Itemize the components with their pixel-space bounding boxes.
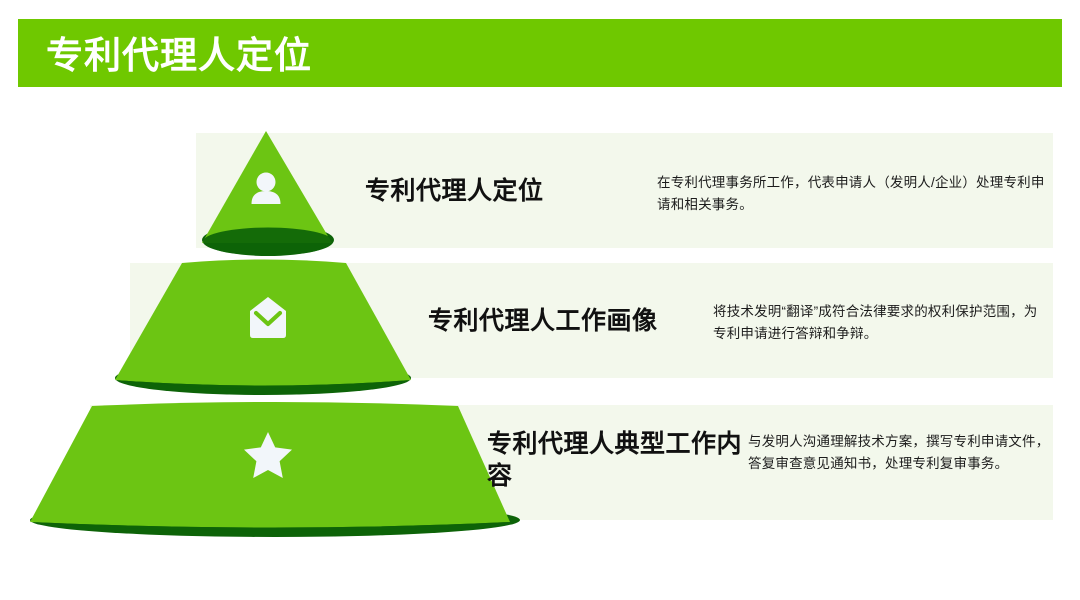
star-icon — [240, 427, 296, 483]
tier-label-1: 专利代理人定位 — [365, 175, 625, 207]
envelope-icon — [242, 292, 294, 344]
tier-description-2: 将技术发明“翻译”成符合法律要求的权利保护范围，为专利申请进行答辩和争辩。 — [713, 301, 1046, 345]
tier-label-2: 专利代理人工作画像 — [428, 305, 688, 337]
person-icon — [241, 165, 291, 215]
slide-title-banner: 专利代理人定位 — [18, 19, 1062, 87]
tier-description-3: 与发明人沟通理解技术方案，撰写专利申请文件，答复审查意见通知书，处理专利复审事务… — [748, 431, 1050, 475]
tier-label-3: 专利代理人典型工作内容 — [487, 428, 745, 492]
page-title: 专利代理人定位 — [46, 25, 312, 79]
tier-description-1: 在专利代理事务所工作，代表申请人（发明人/企业）处理专利申请和相关事务。 — [657, 172, 1047, 216]
